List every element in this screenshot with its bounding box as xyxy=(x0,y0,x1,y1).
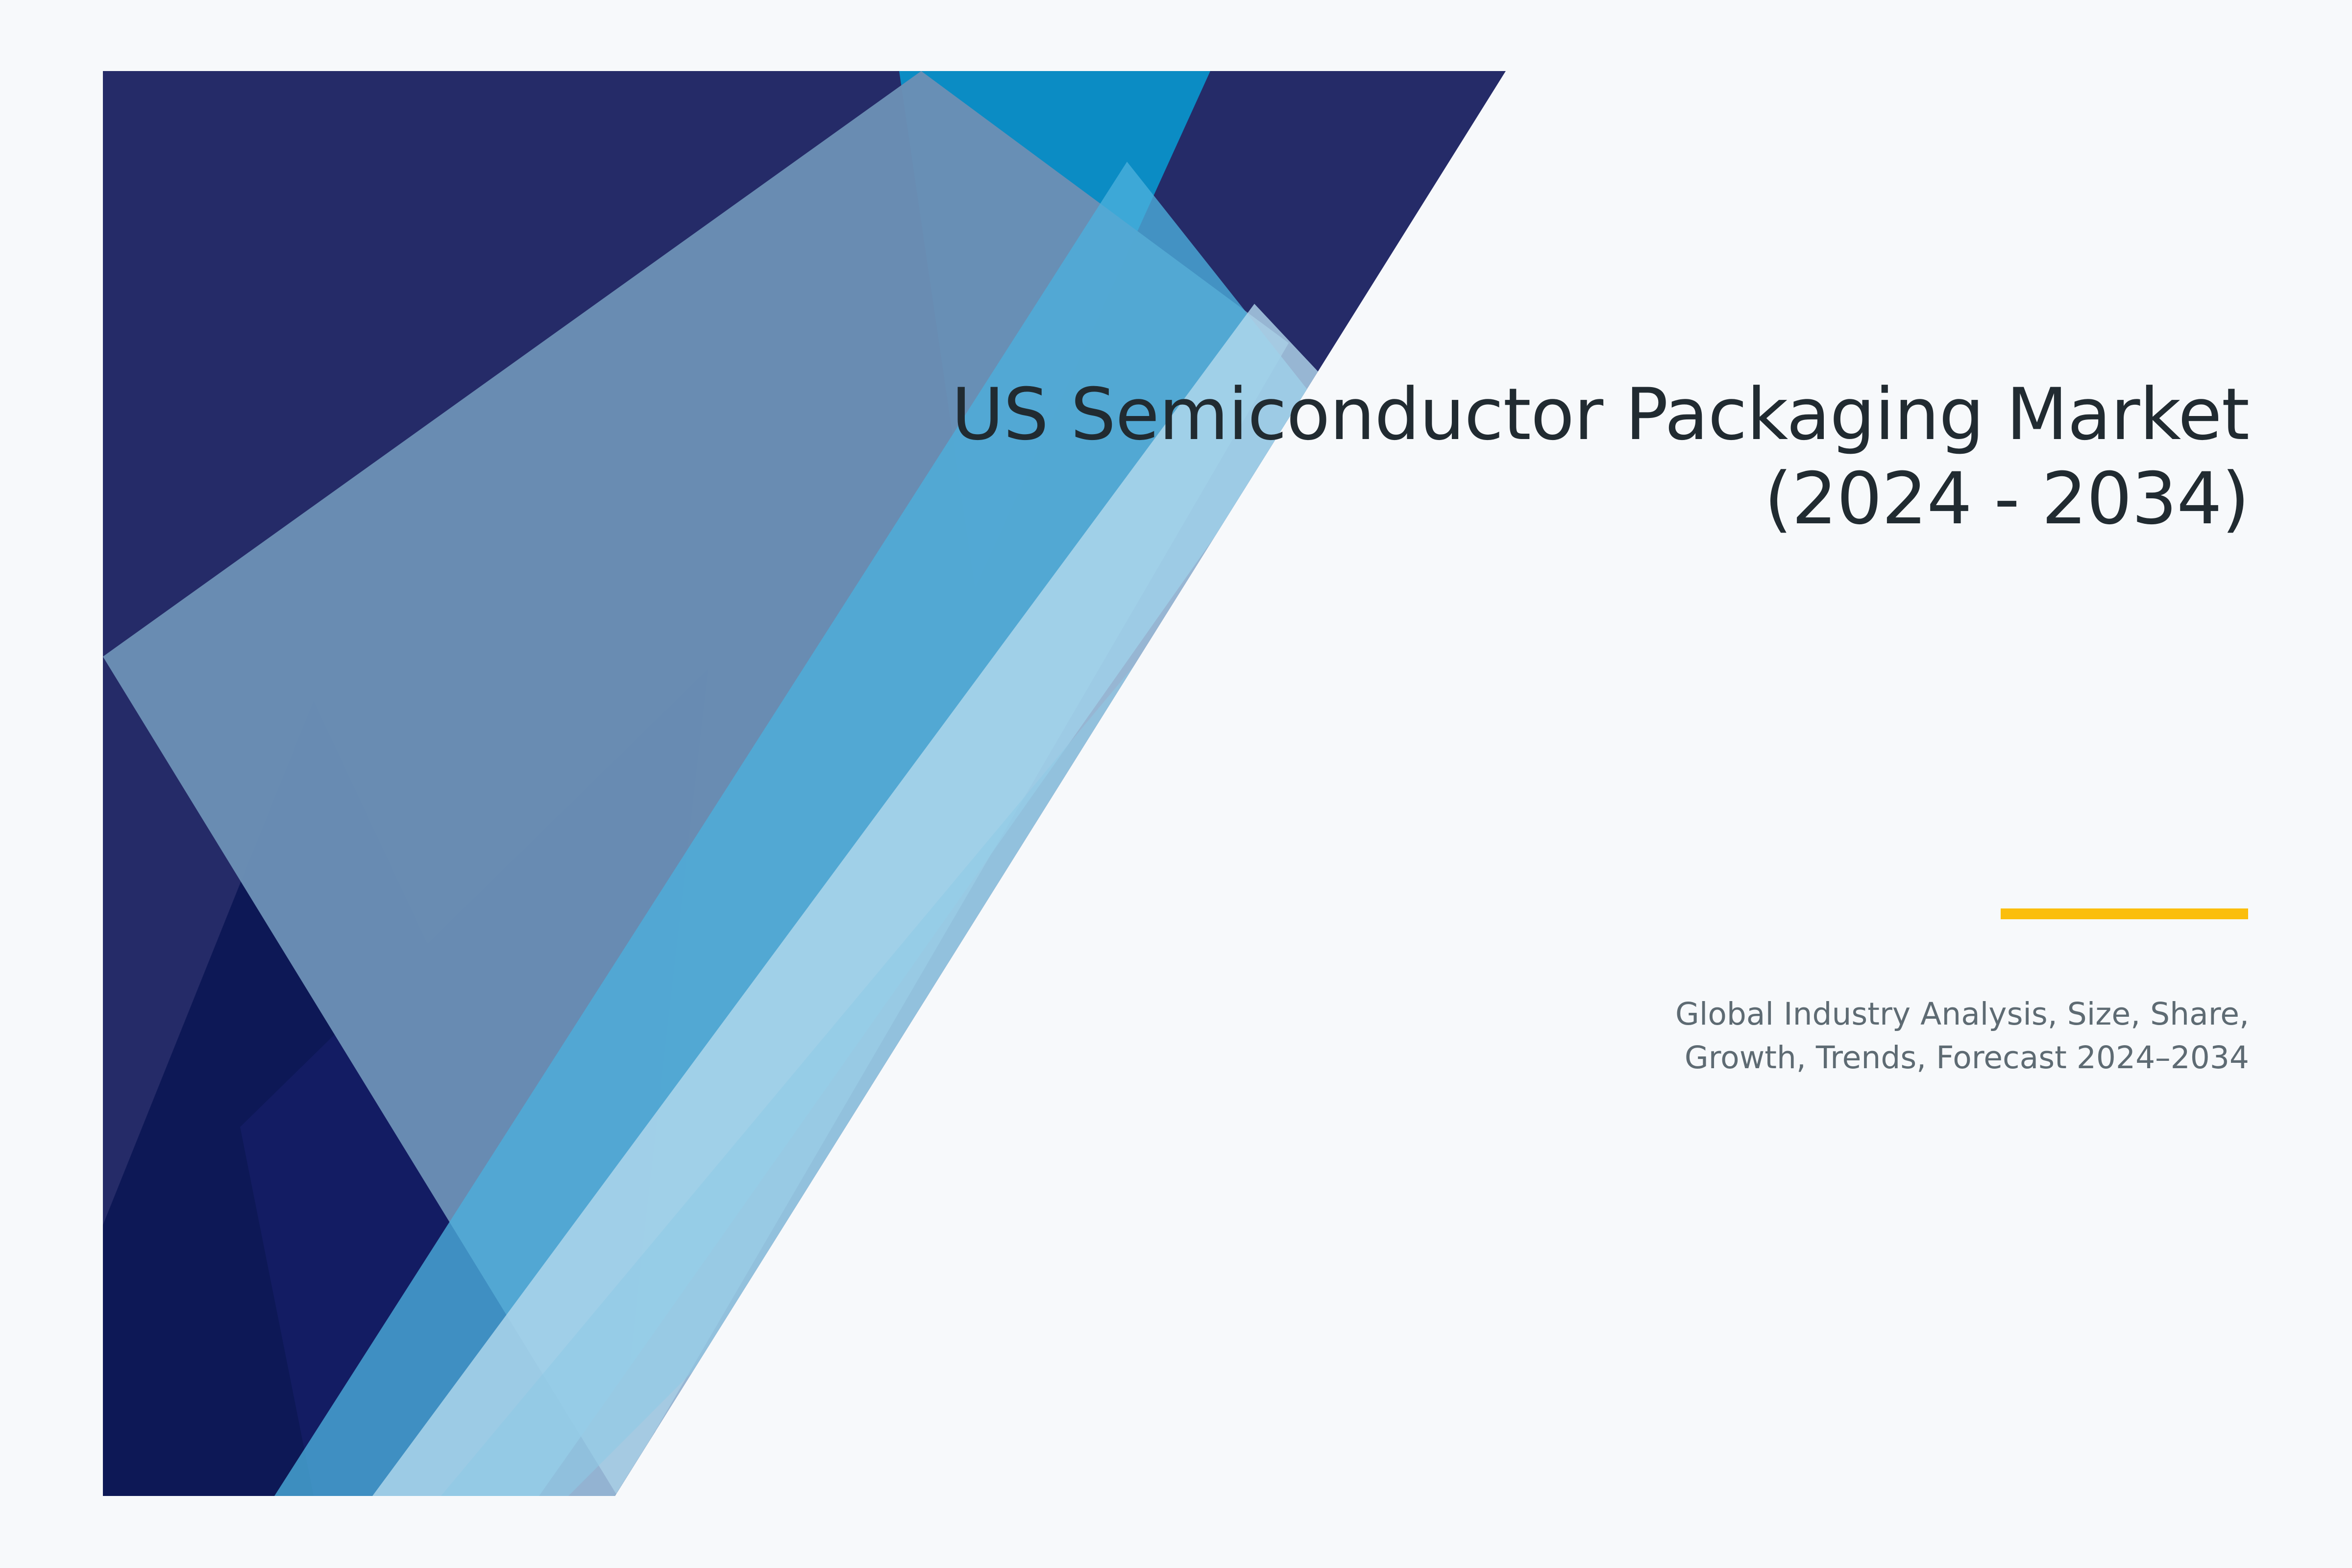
cover-textblock: US Semiconductor Packaging Market (2024 … xyxy=(838,372,2249,541)
page-subtitle: Global Industry Analysis, Size, Share, G… xyxy=(838,992,2249,1080)
cover-artwork xyxy=(0,0,1568,1568)
cover-slide: US Semiconductor Packaging Market (2024 … xyxy=(0,0,2352,1568)
page-title: US Semiconductor Packaging Market (2024 … xyxy=(838,372,2249,541)
title-accent-bar xyxy=(2001,908,2248,919)
